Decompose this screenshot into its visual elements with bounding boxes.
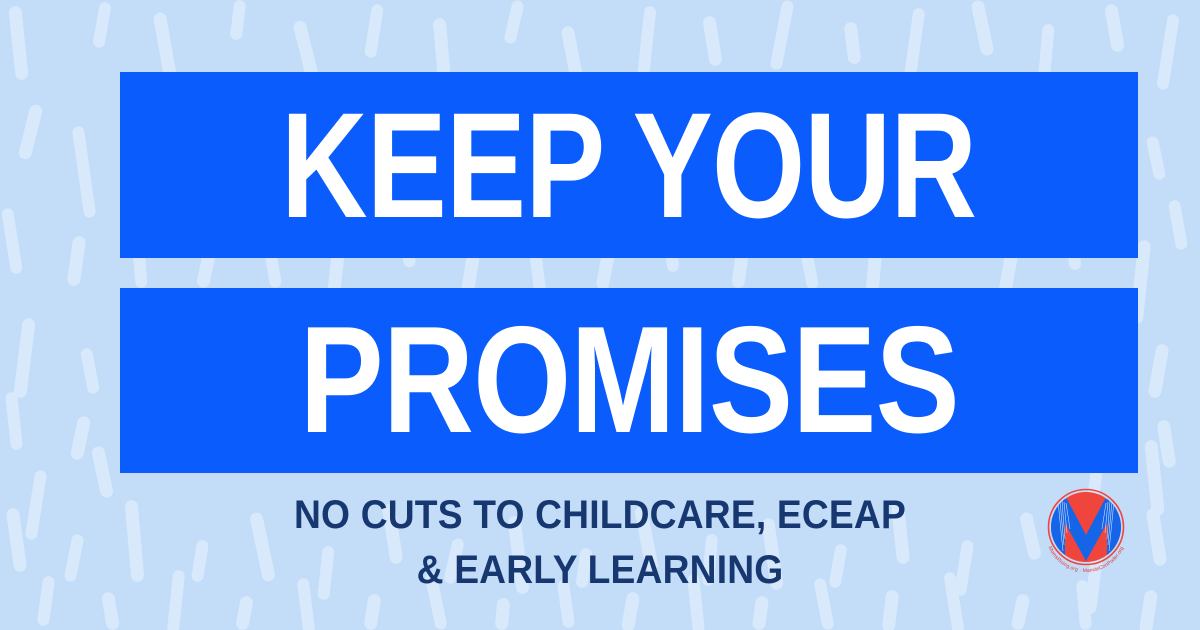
dash-mark: [235, 595, 254, 630]
dash-mark: [230, 0, 247, 41]
dash-mark: [17, 103, 43, 160]
poster-canvas: KEEP YOUR PROMISES NO CUTS TO CHILDCARE,…: [0, 0, 1200, 630]
dash-mark: [1, 207, 23, 274]
dash-mark: [1146, 135, 1167, 181]
dash-mark: [970, 0, 994, 57]
dash-mark: [5, 392, 23, 451]
dash-mark: [843, 21, 861, 64]
headline-line-1: KEEP YOUR: [281, 104, 976, 227]
dash-mark: [70, 415, 92, 461]
dash-mark: [72, 126, 97, 219]
dash-mark: [6, 507, 28, 572]
headline-banner-top: KEEP YOUR: [120, 72, 1138, 258]
dash-mark: [1147, 343, 1169, 398]
dash-mark: [702, 15, 723, 66]
dash-mark: [752, 595, 770, 630]
subtitle-line-1: NO CUTS TO CHILDCARE, ECEAP: [42, 488, 1158, 543]
headline-banner-bottom: PROMISES: [120, 288, 1138, 473]
dash-mark: [8, 6, 29, 81]
dash-mark: [13, 318, 36, 399]
dash-mark: [92, 1, 112, 48]
dash-mark: [1010, 593, 1030, 630]
dash-mark: [67, 235, 87, 286]
subtitle: NO CUTS TO CHILDCARE, ECEAP & EARLY LEAR…: [42, 488, 1158, 598]
dash-mark: [495, 597, 511, 630]
dash-mark: [1156, 419, 1176, 468]
dash-mark: [80, 347, 101, 394]
dash-mark: [1168, 199, 1189, 250]
dash-mark: [769, 0, 794, 71]
dash-mark: [1156, 14, 1180, 91]
dash-mark: [503, 0, 525, 45]
momsrising-logo[interactable]: MomsRising.org · MamásConPoder.org: [1034, 479, 1138, 583]
dash-mark: [363, 593, 381, 630]
dash-mark: [364, 3, 384, 58]
subtitle-line-2: & EARLY LEARNING: [42, 543, 1158, 598]
headline-line-2: PROMISES: [299, 318, 958, 443]
dash-mark: [1104, 3, 1125, 53]
